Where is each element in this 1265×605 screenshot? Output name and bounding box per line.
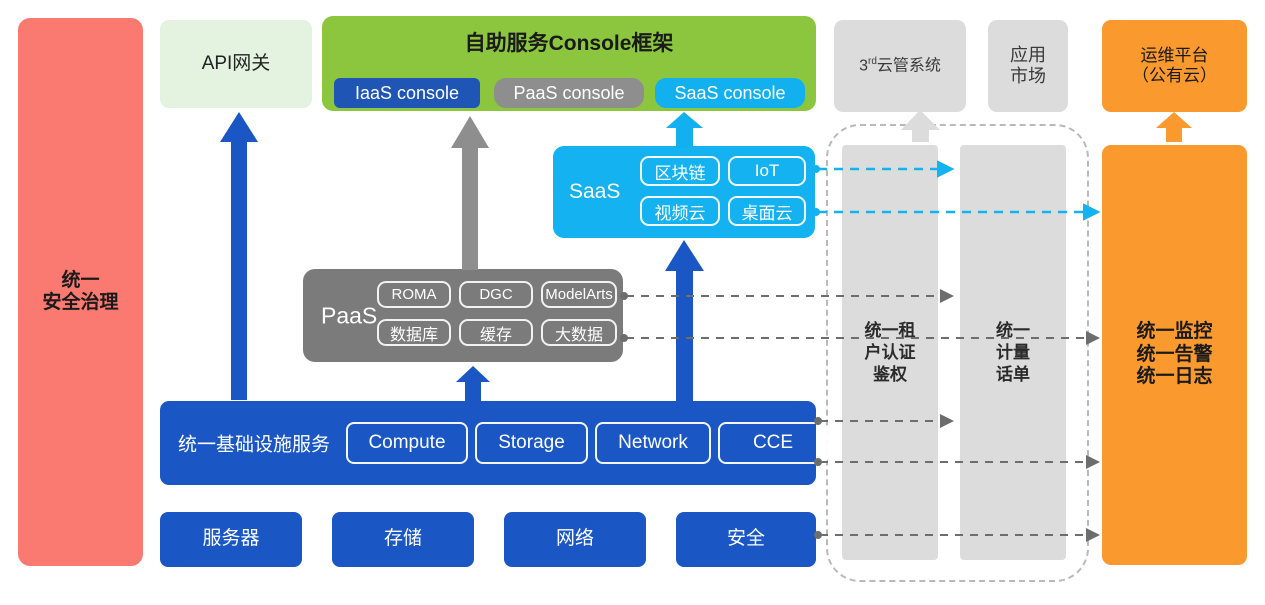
iaas-item-cce-label: CCE [753, 432, 793, 454]
iaas-bar-label: 统一基础设施服务 [178, 430, 330, 457]
chip-paas-console-label: PaaS console [513, 83, 624, 104]
paas-item-bigdata-label: 大数据 [555, 321, 603, 345]
paas-item-dgc-label: DGC [479, 286, 512, 303]
resource-box-security-label: 安全 [727, 528, 765, 550]
iaas-item-network[interactable]: Network [595, 422, 711, 464]
architecture-diagram: 统一 安全治理 API网关 自助服务Console框架 IaaS console… [0, 0, 1265, 605]
console-title: 自助服务Console框架 [322, 27, 816, 57]
chip-iaas-console[interactable]: IaaS console [334, 78, 480, 108]
iaas-bar: 统一基础设施服务 Compute Storage Network CCE [160, 401, 816, 485]
resource-box-storage-label: 存储 [384, 528, 422, 550]
iaas-item-compute-label: Compute [368, 432, 445, 454]
resource-box-network-label: 网络 [556, 528, 594, 550]
paas-item-roma[interactable]: ROMA [377, 281, 451, 308]
chip-paas-console[interactable]: PaaS console [494, 78, 644, 108]
shared-column-auth-label: 统一租 户认证 鉴权 [842, 319, 938, 385]
paas-item-modelarts[interactable]: ModelArts [541, 281, 617, 308]
iaas-item-network-label: Network [618, 432, 688, 454]
ops-platform-top-label: 运维平台 （公有云） [1132, 46, 1217, 86]
paas-block-label: PaaS [321, 302, 377, 329]
third-party-cloud-label: 3rd云管系统 [859, 56, 941, 76]
third-party-cloud-sup: rd [868, 56, 877, 67]
saas-item-desktop-cloud-label: 桌面云 [742, 199, 793, 224]
iaas-item-cce[interactable]: CCE [718, 422, 828, 464]
iaas-item-storage[interactable]: Storage [475, 422, 588, 464]
arrow-paas-to-console [451, 116, 489, 270]
shared-column-metering: 统一 计量 话单 [960, 145, 1066, 560]
paas-item-cache[interactable]: 缓存 [459, 319, 533, 346]
arrow-ops-body-to-ops-top [1156, 112, 1192, 142]
paas-item-roma-label: ROMA [392, 286, 437, 303]
ops-platform-body-label: 统一监控 统一告警 统一日志 [1136, 321, 1212, 388]
third-party-cloud-box: 3rd云管系统 [834, 20, 966, 112]
security-panel-label: 统一 安全治理 [42, 270, 118, 315]
arrow-iaas-to-saas [665, 240, 704, 404]
chip-iaas-console-label: IaaS console [355, 83, 459, 104]
ops-platform-body-box: 统一监控 统一告警 统一日志 [1102, 145, 1247, 565]
paas-item-database[interactable]: 数据库 [377, 319, 451, 346]
paas-block: PaaS ROMA DGC ModelArts 数据库 缓存 大数据 [303, 269, 623, 362]
api-gateway-label: API网关 [202, 53, 271, 75]
chip-saas-console[interactable]: SaaS console [655, 78, 805, 108]
arrow-iaas-to-paas [456, 366, 490, 404]
app-market-box: 应用 市场 [988, 20, 1068, 112]
api-gateway-box: API网关 [160, 20, 312, 108]
resource-box-storage[interactable]: 存储 [332, 512, 474, 567]
saas-item-desktop-cloud[interactable]: 桌面云 [728, 196, 806, 226]
saas-item-iot[interactable]: IoT [728, 156, 806, 186]
saas-item-blockchain[interactable]: 区块链 [640, 156, 720, 186]
paas-item-modelarts-label: ModelArts [545, 286, 613, 303]
saas-block: SaaS 区块链 IoT 视频云 桌面云 [553, 146, 815, 238]
resource-box-security[interactable]: 安全 [676, 512, 816, 567]
saas-item-video-cloud[interactable]: 视频云 [640, 196, 720, 226]
console-frame: 自助服务Console框架 IaaS console PaaS console … [322, 16, 816, 111]
paas-item-bigdata[interactable]: 大数据 [541, 319, 617, 346]
iaas-item-storage-label: Storage [498, 432, 565, 454]
chip-saas-console-label: SaaS console [674, 83, 785, 104]
saas-block-label: SaaS [569, 180, 620, 204]
third-party-cloud-prefix: 3 [859, 57, 868, 74]
arrow-saas-to-console [666, 112, 703, 148]
ops-platform-top-box: 运维平台 （公有云） [1102, 20, 1247, 112]
app-market-label: 应用 市场 [1010, 45, 1046, 87]
arrow-iaas-to-api-gateway [220, 112, 258, 400]
paas-item-dgc[interactable]: DGC [459, 281, 533, 308]
resource-box-server-label: 服务器 [202, 528, 259, 550]
resource-box-network[interactable]: 网络 [504, 512, 646, 567]
iaas-item-compute[interactable]: Compute [346, 422, 468, 464]
paas-item-database-label: 数据库 [390, 321, 438, 345]
security-panel: 统一 安全治理 [18, 18, 143, 566]
shared-column-auth: 统一租 户认证 鉴权 [842, 145, 938, 560]
resource-box-server[interactable]: 服务器 [160, 512, 302, 567]
shared-column-metering-label: 统一 计量 话单 [960, 319, 1066, 385]
saas-item-iot-label: IoT [755, 161, 780, 181]
saas-item-video-cloud-label: 视频云 [655, 199, 706, 224]
paas-item-cache-label: 缓存 [480, 321, 512, 345]
third-party-cloud-rest: 云管系统 [877, 57, 941, 74]
saas-item-blockchain-label: 区块链 [655, 159, 706, 184]
